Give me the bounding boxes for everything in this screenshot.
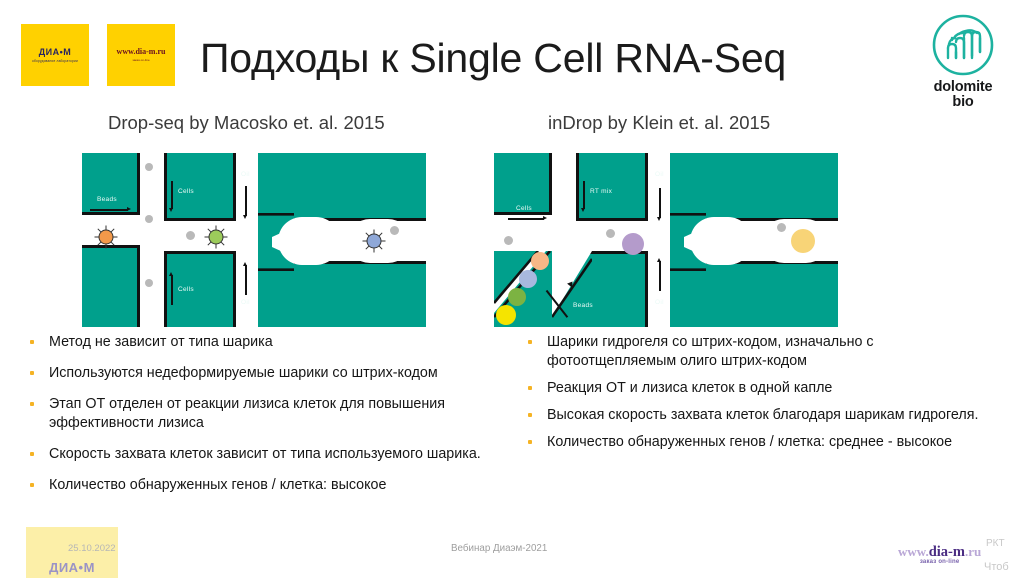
bullet-text: Высокая скорость захвата клеток благодар… [547,406,978,425]
bead-blue [519,270,537,288]
label-oil-top-right: Oil [655,171,664,178]
bullet-marker-icon [30,340,34,344]
bullet-text: Количество обнаруженных генов / клетка: … [49,476,386,495]
column-heading-right: inDrop by Klein et. al. 2015 [548,112,770,134]
bead-droplet-yellow [791,229,815,253]
footer-logo-dm: dia-m [929,544,965,560]
list-item: Количество обнаруженных генов / клетка: … [30,476,500,495]
label-cells-top-left: Cells [178,188,194,195]
slide-root: ДИА•М оборудование лаборатории www.dia-m… [0,0,1024,578]
bullet-marker-icon [528,413,532,417]
diam-logo-tagline: оборудование лаборатории [32,58,78,62]
cell-dot [606,229,615,238]
bullet-marker-icon [528,440,532,444]
page-title: Подходы к Single Cell RNA-Seq [200,30,820,86]
droplet-forming [690,217,752,265]
bullet-text: Используются недеформируемые шарики со ш… [49,364,438,383]
bullet-text: Реакция ОТ и лизиса клеток в одной капле [547,379,832,398]
cell-dot [504,236,513,245]
droplet-forming [278,217,340,265]
diam-logo-name: ДИА•М [39,48,72,57]
footer-center-text: Вебинар Диаэм-2021 [451,543,547,554]
label-cells-right: Cells [516,205,532,212]
label-oil-top-left: Oil [241,171,250,178]
cell-dot [145,279,153,287]
bullet-marker-icon [528,340,532,344]
bead-orange [531,252,549,270]
cell-dot [777,223,786,232]
list-item: Реакция ОТ и лизиса клеток в одной капле [528,379,983,398]
bullet-text: Шарики гидрогеля со штрих-кодом, изначал… [547,333,983,371]
footer-logo-ru: .ru [965,544,981,559]
column-heading-left: Drop-seq by Macosko et. al. 2015 [108,112,385,134]
dolomite-circle-icon [932,14,994,76]
bead-purple [622,233,644,255]
bead-orange-icon [94,225,118,249]
cell-dot [145,215,153,223]
diam-web-logo: www.dia-m.ru заказ on-line [107,24,175,86]
footer-dia-m-logo: www.dia-m.ru заказ on-line [898,543,981,565]
indrop-chip-diagram: Cells RT mix Beads Oil [494,153,838,327]
bullet-marker-icon [30,483,34,487]
footer-ghost-text-1: РКТ [986,538,1005,549]
bead-green-icon [204,225,228,249]
label-oil-bottom-left: Oil [241,299,250,306]
bead-yellow [496,305,516,325]
bead-blue-icon [362,229,386,253]
cell-dot [390,226,399,235]
dropseq-chip-diagram: Beads Cells Cells Oil Oil [82,153,426,327]
cell-dot [145,163,153,171]
bullet-list-right: Шарики гидрогеля со штрих-кодом, изначал… [528,333,983,460]
bullet-marker-icon [30,452,34,456]
diam-web-logo-url: www.dia-m.ru [117,48,166,56]
list-item: Высокая скорость захвата клеток благодар… [528,406,983,425]
footer-logo-www: www. [898,544,929,559]
bullet-marker-icon [528,386,532,390]
bullet-text: Количество обнаруженных генов / клетка: … [547,433,952,452]
label-beads-left: Beads [97,196,117,203]
list-item: Скорость захвата клеток зависит от типа … [30,445,500,464]
cell-dot [186,231,195,240]
footer-ghost-text-2: Чтоб [984,561,1009,573]
footer-date: 25.10.2022 [68,543,116,554]
label-rt-mix: RT mix [590,188,612,195]
list-item: Шарики гидрогеля со штрих-кодом, изначал… [528,333,983,371]
label-beads-right: Beads [573,302,593,309]
label-cells-bottom-left: Cells [178,286,194,293]
footer-watermark-text: ДИА•М [49,560,95,578]
diam-web-logo-tagline: заказ on-line [132,58,149,62]
dolomite-bio-logo: dolomite bio [916,14,1010,122]
list-item: Количество обнаруженных генов / клетка: … [528,433,983,452]
bullet-marker-icon [30,402,34,406]
diam-logo: ДИА•М оборудование лаборатории [21,24,89,86]
list-item: Этап ОТ отделен от реакции лизиса клеток… [30,395,500,433]
bullet-marker-icon [30,371,34,375]
dolomite-name-line1: dolomite [916,80,1010,95]
bullet-list-left: Метод не зависит от типа шарика Использу… [30,333,500,507]
dolomite-name-line2: bio [916,95,1010,110]
list-item: Используются недеформируемые шарики со ш… [30,364,500,383]
list-item: Метод не зависит от типа шарика [30,333,500,352]
bullet-text: Этап ОТ отделен от реакции лизиса клеток… [49,395,500,433]
label-oil-bottom-right: Oil [655,299,664,306]
bead-green [508,288,526,306]
bullet-text: Скорость захвата клеток зависит от типа … [49,445,481,464]
bullet-text: Метод не зависит от типа шарика [49,333,273,352]
